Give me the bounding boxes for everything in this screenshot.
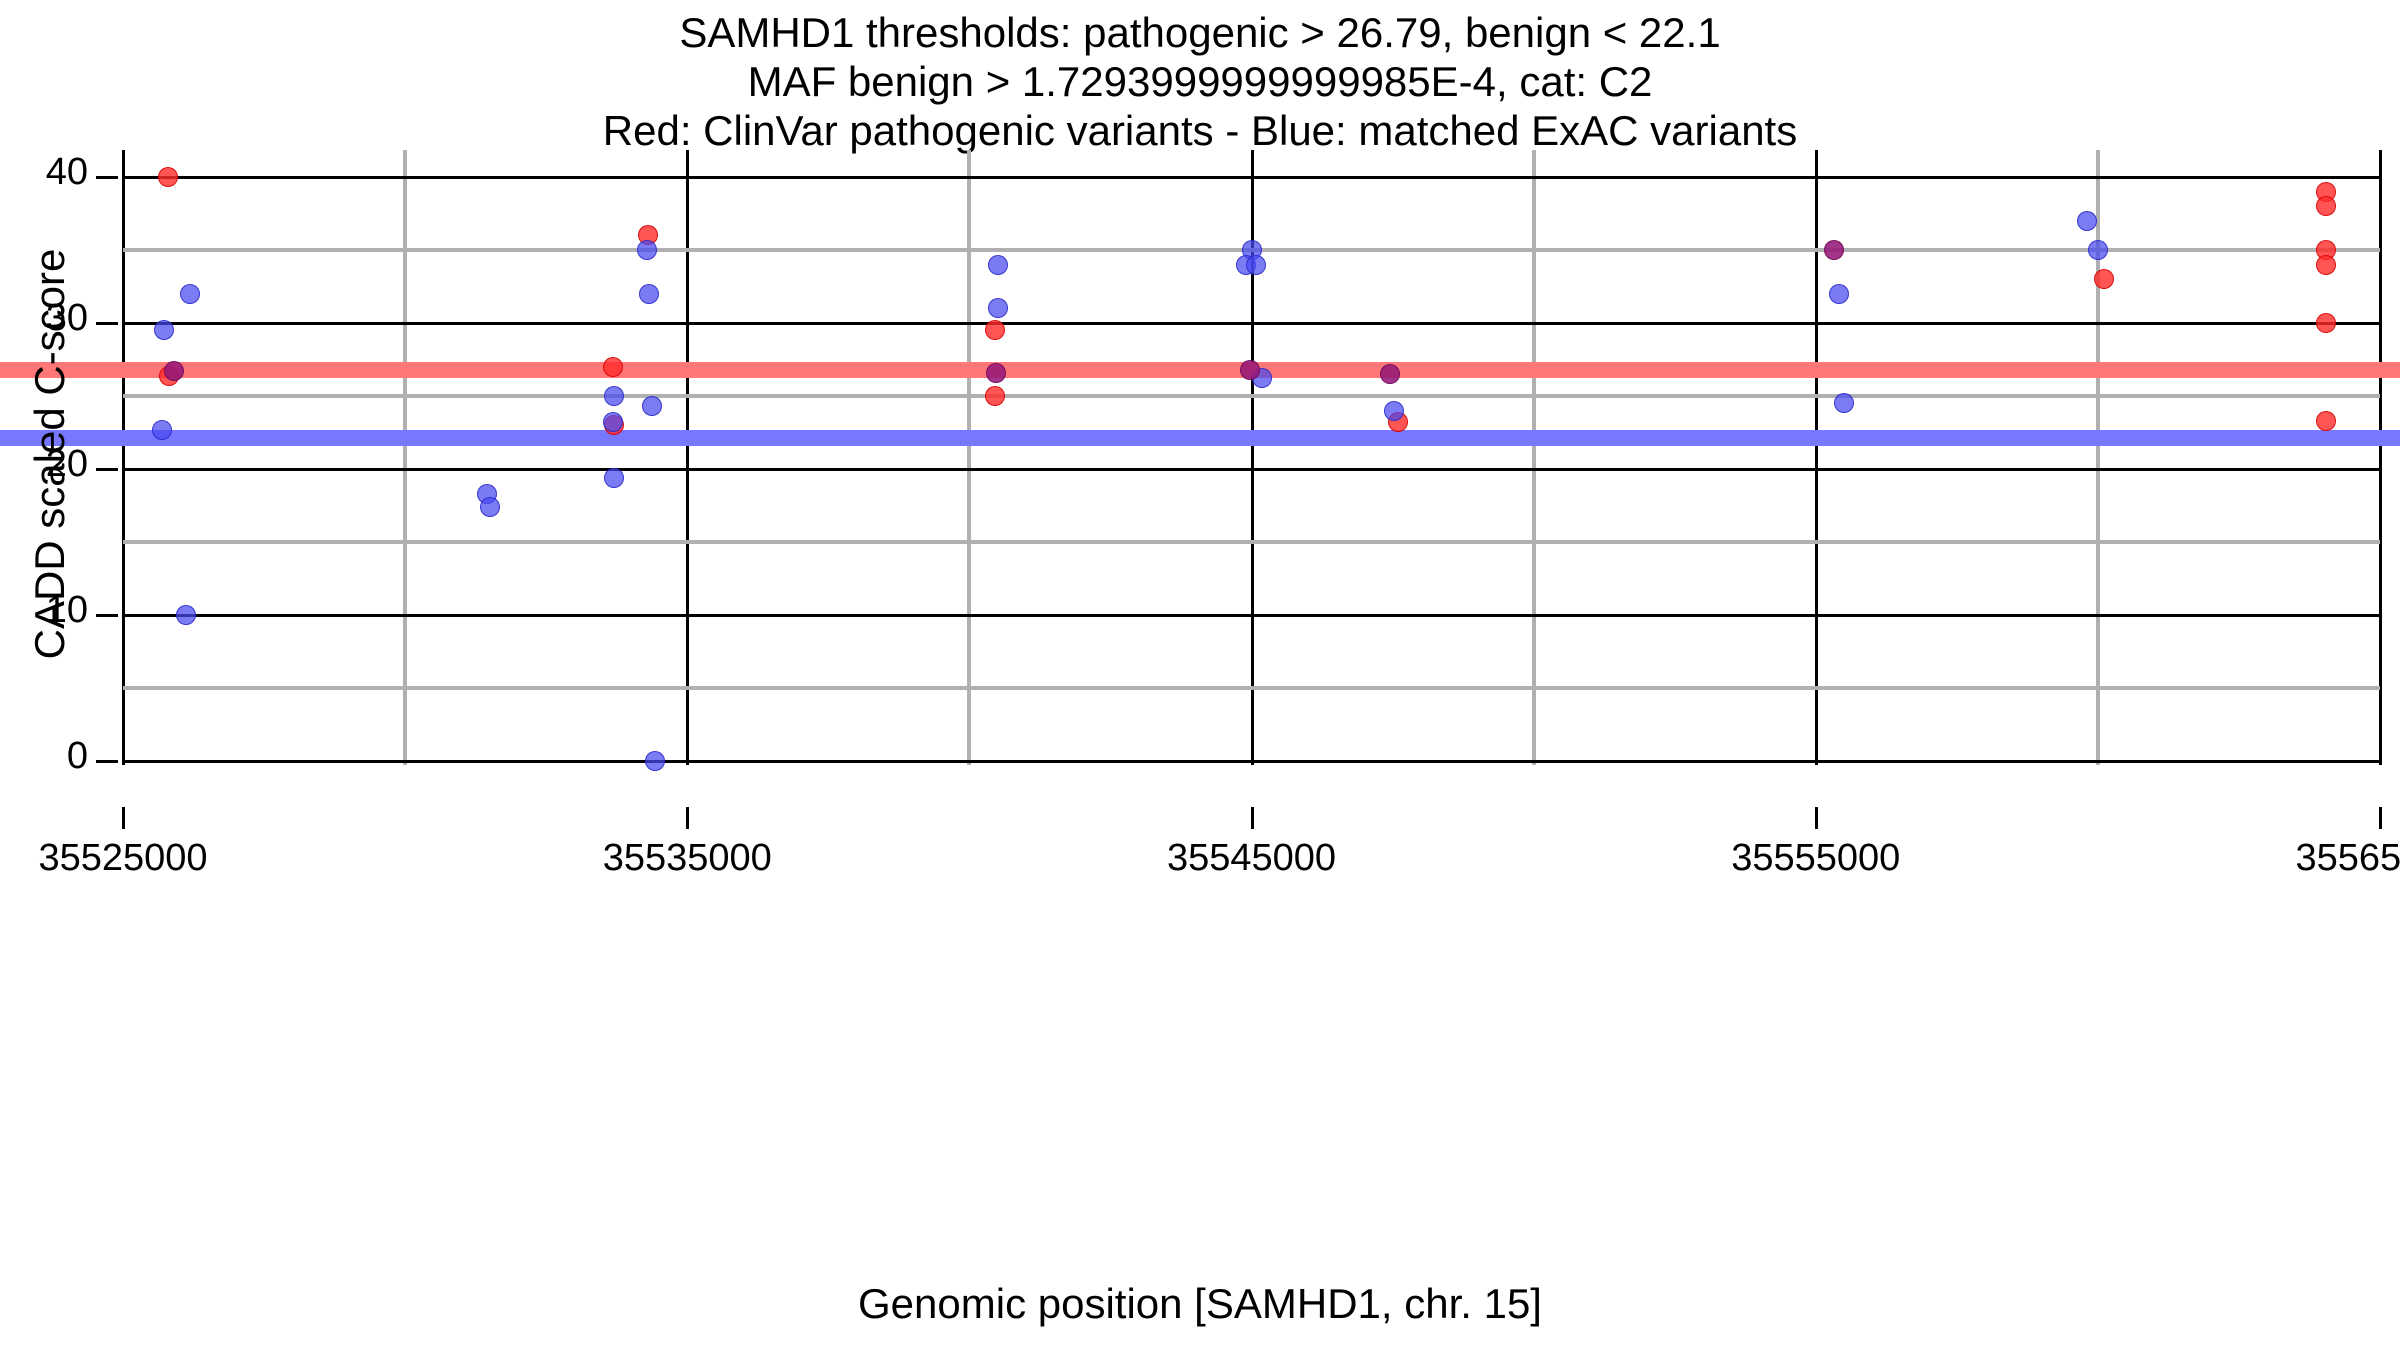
data-point (2094, 269, 2114, 289)
x-axis-tick-label: 35545000 (1072, 837, 1432, 880)
x-axis-tick (2379, 807, 2382, 829)
threshold-band-benign (0, 430, 2400, 446)
title-line-2: MAF benign > 1.7293999999999985E-4, cat:… (0, 57, 2400, 106)
y-major-gridline (123, 322, 2380, 325)
x-major-gridline (686, 150, 689, 765)
x-axis-tick-label: 35565000 (2200, 837, 2400, 880)
data-point (2316, 196, 2336, 216)
data-point (1246, 255, 1266, 275)
x-major-gridline (1815, 150, 1818, 765)
data-point (158, 167, 178, 187)
y-axis-tick (96, 322, 118, 325)
y-minor-gridline (123, 394, 2380, 398)
data-point (154, 320, 174, 340)
data-point (2316, 411, 2336, 431)
data-point (642, 396, 662, 416)
data-point (645, 751, 665, 771)
data-point (604, 468, 624, 488)
x-axis-tick (122, 807, 125, 829)
data-point (604, 386, 624, 406)
x-axis-tick (1251, 807, 1254, 829)
y-major-gridline (123, 176, 2380, 179)
x-major-gridline (2379, 150, 2382, 765)
x-minor-gridline (403, 150, 407, 765)
x-axis-tick-label: 35525000 (0, 837, 303, 880)
data-point (2088, 240, 2108, 260)
y-axis-label: CADD scaled C-score (26, 144, 74, 764)
y-major-gridline (123, 468, 2380, 471)
x-axis-tick-label: 35535000 (507, 837, 867, 880)
data-point (986, 363, 1006, 383)
data-point (176, 605, 196, 625)
threshold-band-pathogenic (0, 362, 2400, 378)
plot-area (123, 150, 2380, 765)
y-axis-tick (96, 176, 118, 179)
x-axis-label: Genomic position [SAMHD1, chr. 15] (0, 1280, 2400, 1328)
x-minor-gridline (1532, 150, 1536, 765)
data-point (988, 255, 1008, 275)
title-line-3: Red: ClinVar pathogenic variants - Blue:… (0, 106, 2400, 155)
x-axis-tick (1815, 807, 1818, 829)
data-point (637, 240, 657, 260)
data-point (2077, 211, 2097, 231)
data-point (1824, 240, 1844, 260)
data-point (639, 284, 659, 304)
data-point (2316, 313, 2336, 333)
data-point (1834, 393, 1854, 413)
data-point (988, 298, 1008, 318)
y-axis-tick (96, 760, 118, 763)
data-point (180, 284, 200, 304)
data-point (164, 361, 184, 381)
chart-title: SAMHD1 thresholds: pathogenic > 26.79, b… (0, 8, 2400, 155)
chart-root: SAMHD1 thresholds: pathogenic > 26.79, b… (0, 0, 2400, 1350)
data-point (985, 386, 1005, 406)
y-axis-tick (96, 614, 118, 617)
data-point (1240, 360, 1260, 380)
data-point (985, 320, 1005, 340)
y-minor-gridline (123, 686, 2380, 690)
y-major-gridline (123, 614, 2380, 617)
x-minor-gridline (967, 150, 971, 765)
x-major-gridline (122, 150, 125, 765)
y-major-gridline (123, 760, 2380, 763)
title-line-1: SAMHD1 thresholds: pathogenic > 26.79, b… (0, 8, 2400, 57)
data-point (480, 497, 500, 517)
y-axis-tick (96, 468, 118, 471)
data-point (1829, 284, 1849, 304)
y-minor-gridline (123, 540, 2380, 544)
x-axis-tick (686, 807, 689, 829)
data-point (1380, 364, 1400, 384)
data-point (1384, 401, 1404, 421)
x-axis-tick-label: 35555000 (1636, 837, 1996, 880)
data-point (603, 357, 623, 377)
data-point (152, 420, 172, 440)
data-point (2316, 255, 2336, 275)
